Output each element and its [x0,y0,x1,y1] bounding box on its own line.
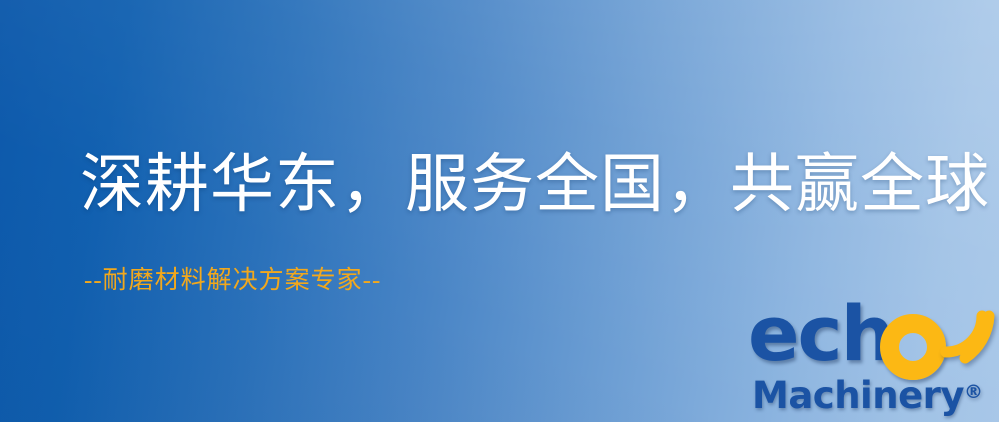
logo-letter-o-group [880,298,999,382]
promo-banner: 深耕华东，服务全国，共赢全球 --耐磨材料解决方案专家-- ech Machin… [0,0,999,422]
banner-subtitle: --耐磨材料解决方案专家-- [84,266,381,296]
echo-machinery-logo: ech Machinery® [744,296,999,422]
logo-tagline-text: Machinery [752,374,964,417]
signal-arcs-icon [924,296,999,372]
banner-headline: 深耕华东，服务全国，共赢全球 [80,152,990,217]
logo-tagline: Machinery® [752,372,983,416]
registered-trademark-icon: ® [964,381,983,403]
logo-wordmark-ech: ech [748,296,893,372]
